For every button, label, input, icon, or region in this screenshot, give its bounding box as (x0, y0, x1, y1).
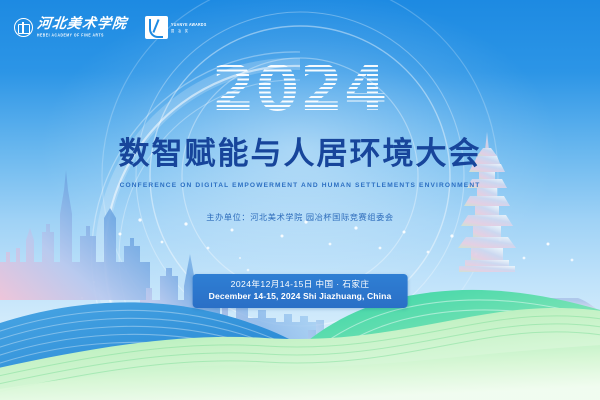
title-en: CONFERENCE ON DIGITAL EMPOWERMENT AND HU… (120, 182, 481, 189)
organizer-text: 主办单位：河北美术学院 园冶杯国际竞赛组委会 (206, 213, 393, 222)
logo-bar: 河北美术学院 HEBEI ACADEMY OF FINE ARTS YUANYE… (14, 16, 207, 39)
conference-poster: 河北美术学院 HEBEI ACADEMY OF FINE ARTS YUANYE… (0, 0, 600, 400)
date-location-cn: 2024年12月14-15日 中国 · 石家庄 (209, 279, 392, 291)
year-number: 2024 (212, 52, 389, 125)
logo-yuanye-en: YUANYE AWARDS (171, 22, 207, 28)
page-subtitle: CONFERENCE ON DIGITAL EMPOWERMENT AND HU… (0, 174, 600, 192)
logo-yuanye-cn: 园 冶 奖 (171, 29, 207, 33)
page-title: 数智赋能与人居环境大会 (0, 128, 600, 173)
logo-yuanye-awards[interactable]: YUANYE AWARDS 园 冶 奖 (145, 16, 207, 39)
circular-seal-icon (14, 18, 33, 37)
date-location-en: December 14-15, 2024 Shi Jiazhuang, Chin… (209, 291, 392, 303)
organizer-line: 主办单位：河北美术学院 园冶杯国际竞赛组委会 (0, 207, 600, 225)
logo-hebei-academy-of-fine-arts[interactable]: 河北美术学院 HEBEI ACADEMY OF FINE ARTS (14, 18, 127, 38)
title-cn: 数智赋能与人居环境大会 (119, 136, 482, 172)
year-display: 2024 (0, 52, 600, 125)
logo-hafa-cn: 河北美术学院 (36, 18, 127, 32)
yuanye-mark-icon (145, 16, 168, 39)
logo-hafa-en: HEBEI ACADEMY OF FINE ARTS (37, 34, 127, 38)
date-location-badge: 2024年12月14-15日 中国 · 石家庄 December 14-15, … (193, 274, 408, 308)
